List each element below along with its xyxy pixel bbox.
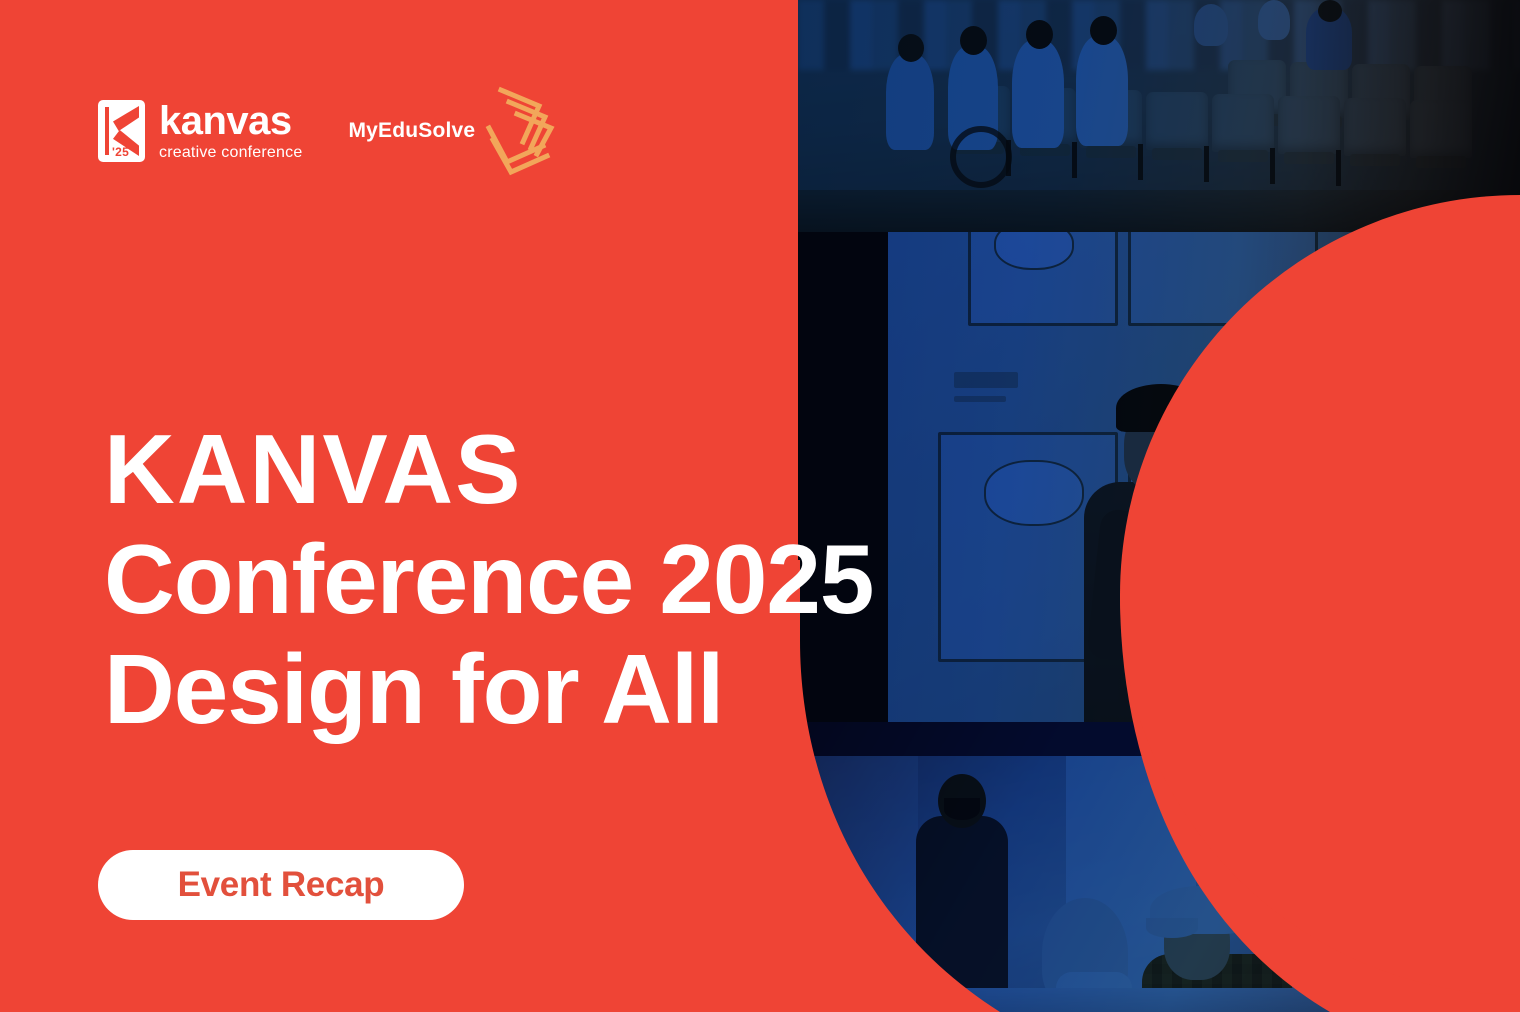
kanvas-wordmark: kanvas <box>159 101 302 141</box>
photo-speaker-on-stage <box>798 232 1520 722</box>
headline-line-1: KANVAS <box>104 420 873 520</box>
headline-line-3: Design for All <box>104 640 873 740</box>
photo-workshop-participants <box>798 722 1520 1012</box>
event-recap-poster: '25 kanvas creative conference MyEduSolv… <box>0 0 1520 1012</box>
page-title: KANVAS Conference 2025 Design for All <box>104 420 873 740</box>
kanvas-logo[interactable]: '25 kanvas creative conference <box>98 100 302 162</box>
event-recap-button[interactable]: Event Recap <box>98 850 464 920</box>
myedusolve-logo[interactable]: MyEduSolve <box>348 84 561 178</box>
myedusolve-chevron-icon <box>477 84 561 178</box>
headline-line-2: Conference 2025 <box>104 530 873 630</box>
kanvas-year-label: '25 <box>112 146 129 158</box>
photo-collage <box>798 0 1520 1012</box>
photo-tint-blue <box>798 722 1520 1012</box>
kanvas-tagline: creative conference <box>159 145 302 161</box>
myedusolve-wordmark: MyEduSolve <box>348 119 475 143</box>
kanvas-k-mark-icon: '25 <box>98 100 145 162</box>
photo-tint-blue <box>798 0 1520 232</box>
brand-bar: '25 kanvas creative conference MyEduSolv… <box>98 84 561 178</box>
photo-auditorium-audience <box>798 0 1520 232</box>
photo-tint-blue <box>798 232 1520 722</box>
